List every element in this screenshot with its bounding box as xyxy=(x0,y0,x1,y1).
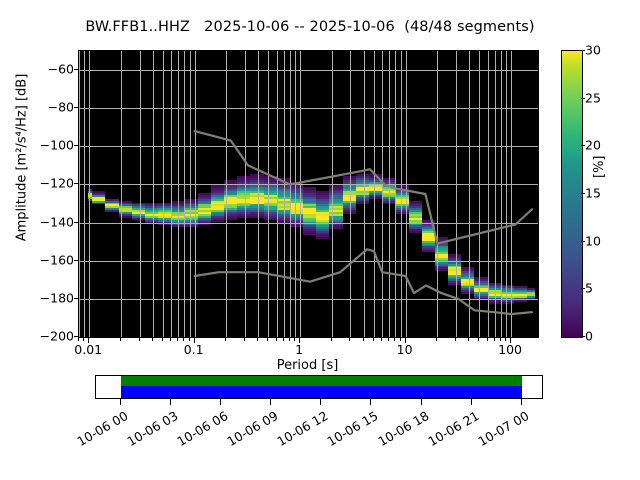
x-tick-mark xyxy=(487,338,488,341)
x-tick-mark xyxy=(257,338,258,341)
y-tick-label: −80 xyxy=(34,100,74,115)
colorbar-tick-mark xyxy=(581,145,585,146)
x-tick-mark xyxy=(331,338,332,341)
x-tick-mark xyxy=(189,338,190,341)
coverage-tick-label: 10-07 00 xyxy=(470,408,531,452)
coverage-tick-label: 10-06 18 xyxy=(370,408,431,452)
x-tick-mark xyxy=(373,338,374,341)
x-tick-label: 100 xyxy=(498,342,522,357)
coverage-tick-label: 10-06 06 xyxy=(169,408,230,452)
x-tick-mark xyxy=(276,338,277,341)
y-tick-label: −120 xyxy=(34,176,74,191)
colorbar-ticks: 051015202530 xyxy=(561,50,621,336)
coverage-tick-label: 10-06 00 xyxy=(69,408,130,452)
colorbar-tick-label: 30 xyxy=(585,43,601,58)
x-tick-label: 1 xyxy=(295,342,303,357)
colorbar-tick-label: 0 xyxy=(585,329,593,344)
y-axis-label: Amplitude [m²/s⁴/Hz] [dB] xyxy=(15,13,30,303)
coverage-axis-labels: 10-06 0010-06 0310-06 0610-06 0910-06 12… xyxy=(0,404,640,474)
x-tick-mark xyxy=(363,338,364,341)
y-tick-label: −180 xyxy=(34,290,74,305)
data-coverage-bar xyxy=(95,375,543,399)
coverage-tick-label: 10-06 15 xyxy=(319,408,380,452)
x-tick-mark xyxy=(394,338,395,341)
x-tick-mark xyxy=(455,338,456,341)
coverage-segments-band xyxy=(121,376,522,386)
colorbar-tick-mark xyxy=(581,98,585,99)
colorbar-tick-label: 15 xyxy=(585,186,601,201)
x-tick-mark xyxy=(478,338,479,341)
y-tick-label: −100 xyxy=(34,138,74,153)
colorbar-tick-mark xyxy=(581,336,585,337)
coverage-availability-band xyxy=(121,386,522,398)
x-tick-mark xyxy=(436,338,437,341)
coverage-tick-label: 10-06 21 xyxy=(420,408,481,452)
colorbar-tick-label: 10 xyxy=(585,233,601,248)
x-tick-mark xyxy=(494,338,495,341)
ppsd-figure: BW.FFB1..HHZ 2025-10-06 -- 2025-10-06 (4… xyxy=(0,0,640,480)
colorbar-label: [%] xyxy=(592,156,607,179)
y-tick-label: −160 xyxy=(34,252,74,267)
coverage-tick-label: 10-06 03 xyxy=(119,408,180,452)
x-axis: 0.010.1110100 xyxy=(78,338,537,360)
x-tick-mark xyxy=(152,338,153,341)
colorbar-tick-label: 5 xyxy=(585,281,593,296)
x-tick-mark xyxy=(183,338,184,341)
x-axis-label: Period [s] xyxy=(78,358,537,373)
colorbar-tick-label: 25 xyxy=(585,90,601,105)
coverage-tick-label: 10-06 12 xyxy=(270,408,331,452)
x-tick-mark xyxy=(244,338,245,341)
x-tick-label: 10 xyxy=(397,342,413,357)
x-tick-mark xyxy=(267,338,268,341)
x-tick-mark xyxy=(349,338,350,341)
colorbar-tick-mark xyxy=(581,288,585,289)
x-tick-mark xyxy=(468,338,469,341)
x-tick-mark xyxy=(225,338,226,341)
colorbar-tick-label: 20 xyxy=(585,138,601,153)
x-tick-label: 0.01 xyxy=(74,342,102,357)
x-tick-mark xyxy=(381,338,382,341)
x-tick-mark xyxy=(78,338,79,341)
x-tick-mark xyxy=(505,338,506,341)
colorbar-tick-mark xyxy=(581,241,585,242)
figure-title: BW.FFB1..HHZ 2025-10-06 -- 2025-10-06 (4… xyxy=(0,19,620,35)
x-tick-mark xyxy=(388,338,389,341)
x-tick-mark xyxy=(177,338,178,341)
x-tick-mark xyxy=(289,338,290,341)
colorbar-tick-mark xyxy=(581,193,585,194)
x-tick-mark xyxy=(500,338,501,341)
x-tick-mark xyxy=(294,338,295,341)
x-tick-mark xyxy=(120,338,121,341)
x-tick-mark xyxy=(283,338,284,341)
x-tick-mark xyxy=(162,338,163,341)
colorbar-tick-mark xyxy=(581,50,585,51)
x-tick-mark xyxy=(400,338,401,341)
y-tick-label: −60 xyxy=(34,62,74,77)
y-axis: −60−80−100−120−140−160−180−200 xyxy=(28,50,74,336)
x-tick-label: 0.1 xyxy=(184,342,204,357)
coverage-tick-label: 10-06 09 xyxy=(220,408,281,452)
x-tick-mark xyxy=(170,338,171,341)
y-tick-label: −200 xyxy=(34,329,74,344)
x-tick-mark xyxy=(139,338,140,341)
x-tick-mark xyxy=(83,338,84,341)
peterson-noise-model-curves xyxy=(79,51,538,337)
y-tick-label: −140 xyxy=(34,214,74,229)
ppsd-plot-area xyxy=(78,50,539,338)
